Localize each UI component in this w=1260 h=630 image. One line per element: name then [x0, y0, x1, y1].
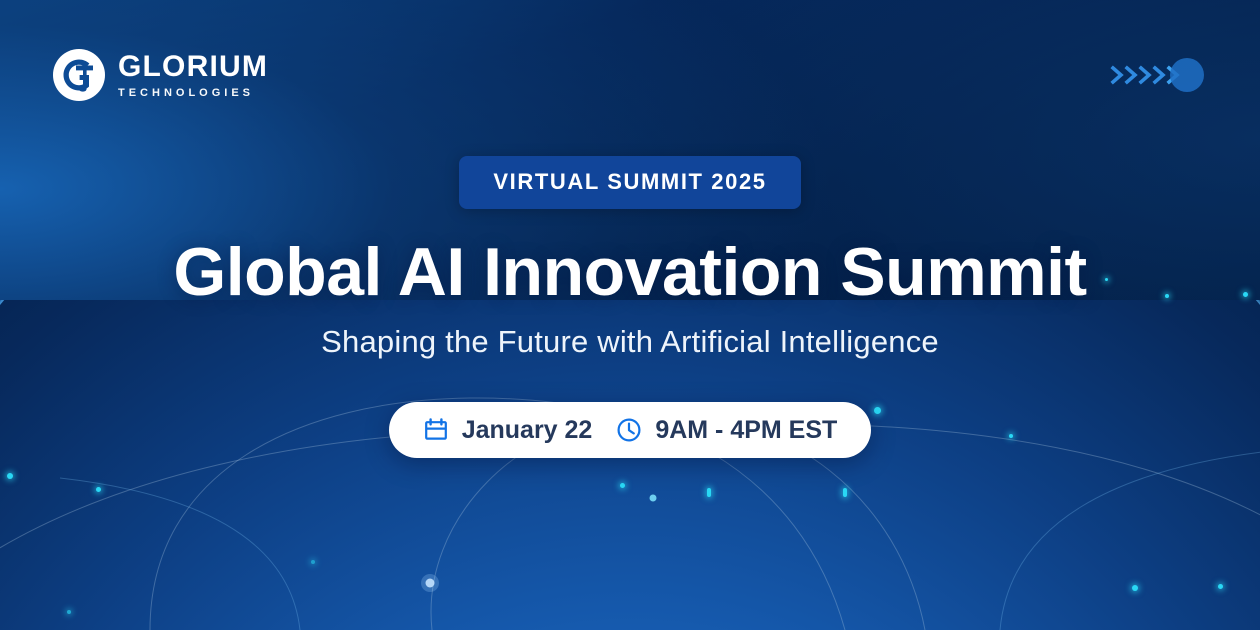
- event-time: 9AM - 4PM EST: [616, 416, 837, 445]
- page-title: Global AI Innovation Summit: [173, 237, 1086, 308]
- event-details-pill: January 22 9AM - 4PM EST: [389, 402, 872, 458]
- event-time-text: 9AM - 4PM EST: [655, 416, 837, 445]
- status-badge: VIRTUAL SUMMIT 2025: [459, 156, 800, 209]
- event-date: January 22: [423, 416, 593, 445]
- clock-icon: [616, 417, 642, 443]
- hero-content: VIRTUAL SUMMIT 2025 Global AI Innovation…: [0, 0, 1260, 458]
- event-date-text: January 22: [462, 416, 593, 445]
- page-subtitle: Shaping the Future with Artificial Intel…: [321, 324, 939, 360]
- calendar-icon: [423, 417, 449, 443]
- event-banner: GLORIUM TECHNOLOGIES VIRTUAL SUMMIT 2025…: [0, 0, 1260, 630]
